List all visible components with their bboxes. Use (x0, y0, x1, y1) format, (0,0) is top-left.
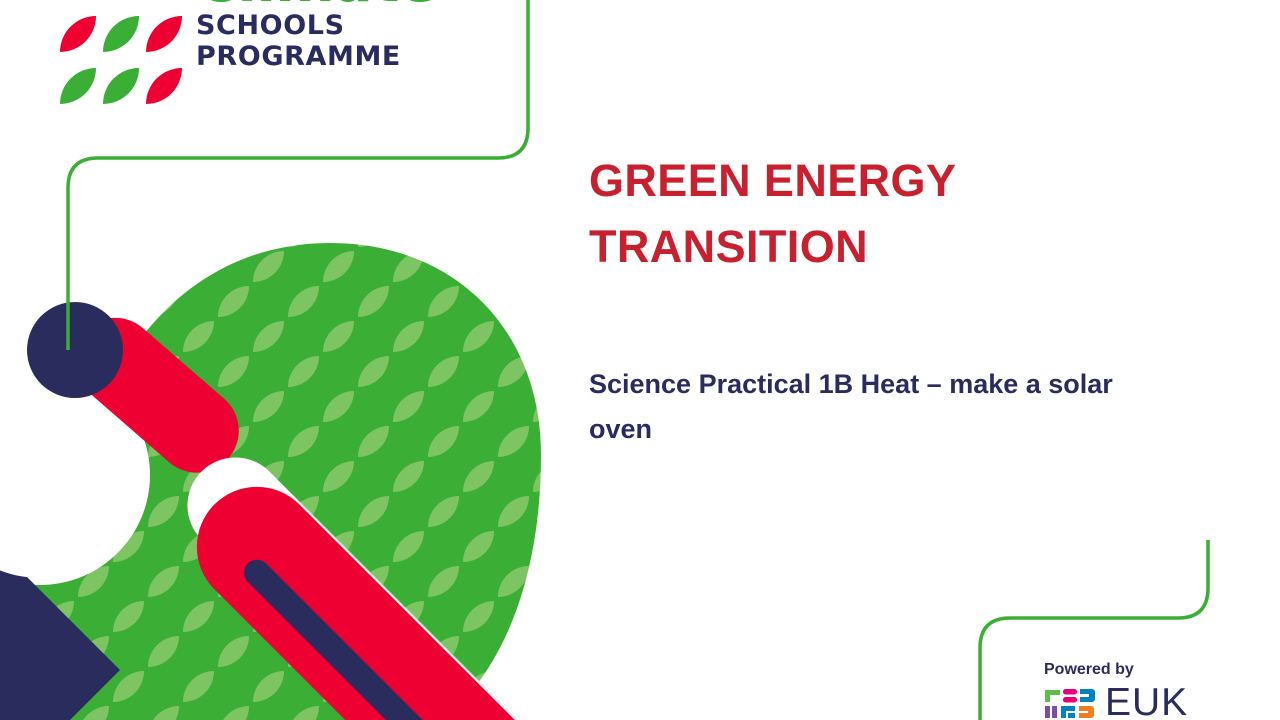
slide-subtitle: Science Practical 1B Heat – make a solar… (589, 362, 1129, 452)
brand-logo: Climate SCHOOLS PROGRAMME (60, 0, 480, 106)
brand-name-climate: Climate (196, 0, 526, 10)
content-block: GREEN ENERGY TRANSITION Science Practica… (589, 0, 1189, 720)
partner-logo: EUK (1044, 686, 1264, 720)
brand-wordmark: Climate SCHOOLS PROGRAMME (196, 0, 526, 72)
partner-name: EUK (1105, 686, 1188, 720)
powered-by-block: Powered by EUK (1044, 660, 1264, 720)
euk-blocks-mark (1044, 686, 1099, 720)
slide-title: GREEN ENERGY TRANSITION (589, 148, 1149, 280)
brand-name-programme: PROGRAMME (196, 41, 526, 72)
powered-by-label: Powered by (1044, 660, 1264, 680)
slide-canvas: Climate SCHOOLS PROGRAMME GREEN ENERGY T… (0, 0, 1280, 720)
leaf-grid-mark (60, 0, 182, 106)
